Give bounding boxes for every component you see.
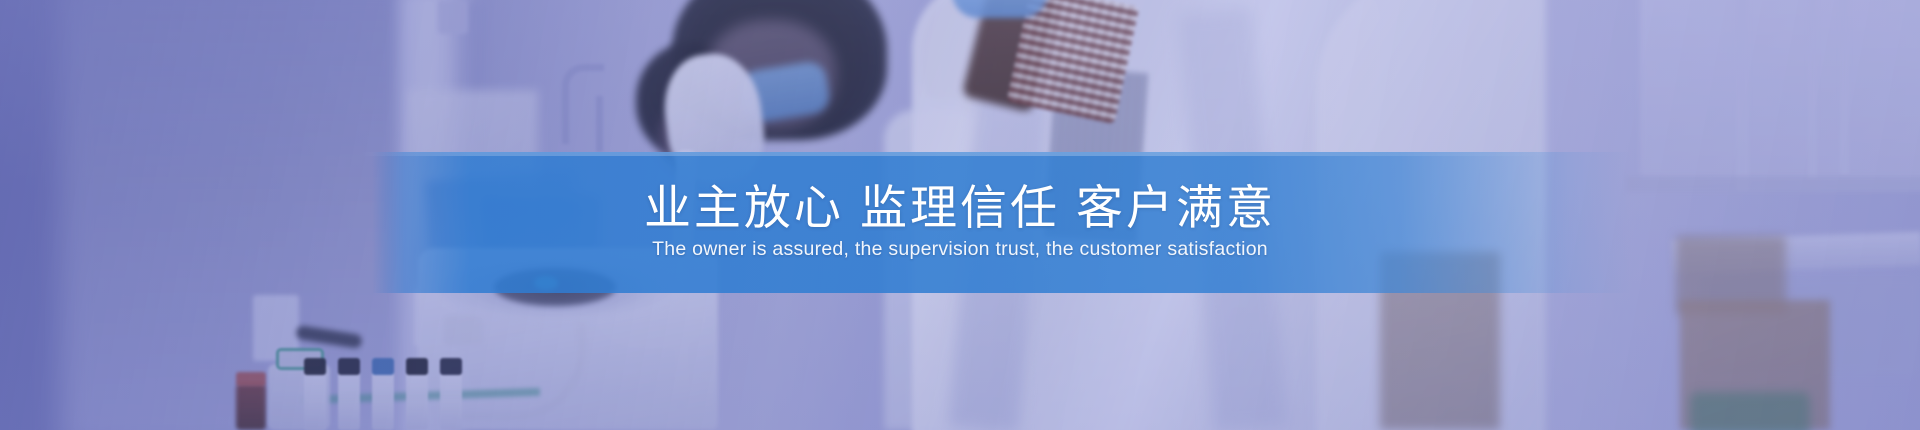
color-grade-overlay-2 bbox=[0, 0, 1920, 430]
caption-band-highlight bbox=[0, 152, 1920, 156]
banner-background-photo bbox=[0, 0, 1920, 430]
hero-banner: 业主放心 监理信任 客户满意 The owner is assured, the… bbox=[0, 0, 1920, 430]
